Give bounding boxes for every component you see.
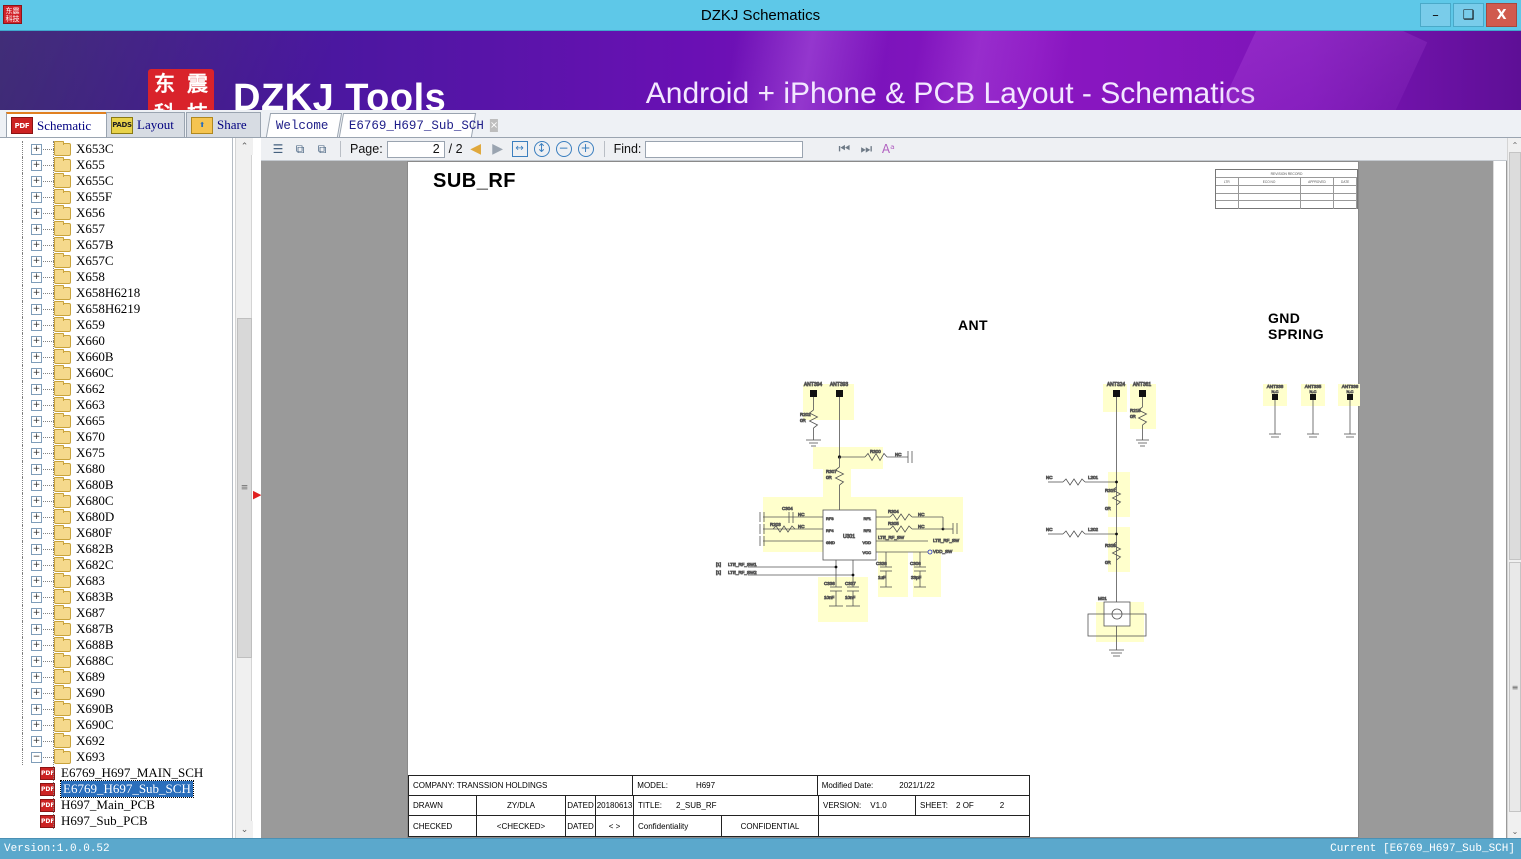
svg-text:R202: R202 <box>800 412 811 417</box>
document-icon[interactable]: ☰ <box>269 140 287 158</box>
expand-icon[interactable]: + <box>31 432 42 443</box>
tree-file-item[interactable]: PDFE6769_H697_MAIN_SCH <box>0 765 233 781</box>
tree-guide: + <box>0 333 34 349</box>
svg-text:N.C: N.C <box>1310 389 1317 394</box>
tree-folder-x680b[interactable]: +X680B <box>0 477 233 493</box>
doctab-welcome-label: Welcome <box>276 119 329 133</box>
folder-icon <box>54 559 71 572</box>
expand-icon[interactable]: + <box>31 368 42 379</box>
tree-folder-x690[interactable]: +X690 <box>0 685 233 701</box>
minimize-button[interactable]: – <box>1420 3 1451 27</box>
expand-icon[interactable]: + <box>31 736 42 747</box>
expand-icon[interactable]: + <box>31 144 42 155</box>
maximize-button[interactable]: ❑ <box>1453 3 1484 27</box>
sidebar-scroll-down-icon[interactable]: ⌄ <box>236 821 253 838</box>
viewer-scroll-thumb[interactable]: ≡ <box>1509 562 1521 812</box>
sidebar-scrollbar[interactable]: ⌃ ≡ ⌄ <box>235 138 252 838</box>
confidentiality-label: Confidentiality <box>634 816 722 836</box>
find-previous-button[interactable]: ⏮ <box>835 140 853 158</box>
tree-folder-x665[interactable]: +X665 <box>0 413 233 429</box>
model-value: H697 <box>696 781 715 790</box>
tree-folder-x655f[interactable]: +X655F <box>0 189 233 205</box>
tree-file-label: H697_Sub_PCB <box>61 813 148 829</box>
title-block: COMPANY: TRANSSION HOLDINGS MODEL: H697 … <box>408 775 1030 837</box>
prev-page-button[interactable]: ◀ <box>467 140 485 158</box>
checked-dated-value: < > <box>596 816 634 836</box>
tree-folder-x653c[interactable]: +X653C <box>0 141 233 157</box>
svg-text:0R: 0R <box>800 418 807 423</box>
svg-text:C336: C336 <box>824 581 835 586</box>
folder-icon <box>54 687 71 700</box>
tree-folder-label: X657B <box>76 237 114 253</box>
tree-folder-x657b[interactable]: +X657B <box>0 237 233 253</box>
tree-folder-label: X680D <box>76 509 114 525</box>
tree-folder-x687b[interactable]: +X687B <box>0 621 233 637</box>
page-inner-scrollbar[interactable] <box>1493 161 1506 838</box>
tree-folder-x660[interactable]: +X660 <box>0 333 233 349</box>
folder-icon <box>54 671 71 684</box>
svg-text:R316: R316 <box>1105 543 1116 548</box>
title-block-row-1: COMPANY: TRANSSION HOLDINGS MODEL: H697 … <box>409 776 1029 796</box>
svg-text:ANT393: ANT393 <box>830 382 849 388</box>
tree-folder-label: X662 <box>76 381 105 397</box>
tree-folder-x680f[interactable]: +X680F <box>0 525 233 541</box>
folder-icon <box>54 655 71 668</box>
tree-folder-label: X692 <box>76 733 105 749</box>
folder-icon <box>54 415 71 428</box>
tree-folder-label: X690B <box>76 701 114 717</box>
tab-share-label: Share <box>217 117 247 133</box>
tree-guide: + <box>0 269 34 285</box>
expand-icon[interactable]: + <box>31 544 42 555</box>
tree-folder-x682c[interactable]: +X682C <box>0 557 233 573</box>
tree-folder-label: X655C <box>76 173 114 189</box>
tree-guide: + <box>0 621 34 637</box>
tree-guide: + <box>0 637 34 653</box>
tree-guide: + <box>0 445 34 461</box>
tree-folder-x658h6219[interactable]: +X658H6219 <box>0 301 233 317</box>
version-value: V1.0 <box>870 801 886 810</box>
viewer-scroll-thumb-top[interactable] <box>1509 152 1521 560</box>
status-bar: Version:1.0.0.52 Current [E6769_H697_Sub… <box>0 838 1521 859</box>
expand-icon[interactable]: + <box>31 720 42 731</box>
folder-icon <box>54 383 71 396</box>
tree-guide: + <box>0 541 34 557</box>
tree-folder-label: X680B <box>76 477 114 493</box>
tree-folder-label: X688B <box>76 637 114 653</box>
banner-tagline: Android + iPhone & PCB Layout - Schemati… <box>0 77 1521 110</box>
find-next-button[interactable]: ⏭ <box>857 140 875 158</box>
svg-text:C326: C326 <box>876 561 887 566</box>
svg-text:ANT394: ANT394 <box>804 382 823 388</box>
folder-icon <box>54 335 71 348</box>
folder-icon <box>54 607 71 620</box>
svg-text:10nF: 10nF <box>845 595 856 600</box>
svg-text:0R: 0R <box>1105 560 1112 565</box>
splitter-expand-icon[interactable]: ▶ <box>253 488 261 502</box>
share-folder-icon: ⬆ <box>191 117 213 134</box>
svg-text:R304: R304 <box>888 509 899 514</box>
expand-icon[interactable]: + <box>31 624 42 635</box>
tree-guide: + <box>0 717 34 733</box>
model-cell: MODEL: H697 <box>633 776 817 795</box>
title-label: TITLE: <box>638 801 662 810</box>
svg-text:[1]: [1] <box>716 562 721 567</box>
viewer-toolbar: ☰ ⧉ ⧉ Page: 2 / 2 ◀ ▶ ↔ ↕ − + Find: ⏮ ⏭ … <box>261 138 1507 161</box>
match-case-icon[interactable]: Aᵃ <box>879 140 897 158</box>
folder-icon <box>54 463 71 476</box>
expand-icon[interactable]: + <box>31 256 42 267</box>
tree-guide: + <box>0 365 34 381</box>
svg-text:LTE_RF_SW: LTE_RF_SW <box>878 535 905 540</box>
folder-icon <box>54 351 71 364</box>
tree-folder-x659[interactable]: +X659 <box>0 317 233 333</box>
tree-guide: + <box>0 461 34 477</box>
svg-text:R203: R203 <box>770 522 781 527</box>
tab-schematic-label: Schematic <box>37 118 91 134</box>
page-total-label: / 2 <box>449 142 463 156</box>
folder-icon <box>54 319 71 332</box>
tab-share[interactable]: ⬆ Share <box>186 112 261 137</box>
svg-text:R317: R317 <box>1105 488 1116 493</box>
viewer-scroll-up-icon[interactable]: ⌃ <box>1508 138 1521 152</box>
folder-icon <box>54 175 71 188</box>
folder-icon <box>54 623 71 636</box>
expand-icon[interactable]: + <box>31 416 42 427</box>
svg-text:R307: R307 <box>826 469 837 474</box>
svg-text:0R: 0R <box>826 475 833 480</box>
tree-file-item[interactable]: PDFH697_Sub_PCB <box>0 813 233 829</box>
tree-guide: + <box>0 141 34 157</box>
file-tree-sidebar[interactable]: +X653C+X655+X655C+X655F+X656+X657+X657B+… <box>0 138 233 838</box>
toolbar-divider-2 <box>604 141 605 157</box>
tree-folder-x680[interactable]: +X680 <box>0 461 233 477</box>
folder-icon <box>54 703 71 716</box>
doctab-active-label: E6769_H697_Sub_SCH <box>349 119 484 133</box>
tree-folder-label: X689 <box>76 669 105 685</box>
company-cell: COMPANY: TRANSSION HOLDINGS <box>409 776 633 795</box>
expand-icon[interactable]: + <box>31 640 42 651</box>
tree-file-item[interactable]: PDFH697_Main_PCB <box>0 797 233 813</box>
tab-strip: PDF Schematic PADS Layout ⬆ Share Welcom… <box>0 110 1521 138</box>
tree-guide: + <box>0 509 34 525</box>
modified-label: Modified Date: <box>822 781 874 790</box>
tab-schematic[interactable]: PDF Schematic <box>6 112 110 137</box>
tree-file-item[interactable]: PDFE6769_H697_Sub_SCH <box>0 781 233 797</box>
tree-folder-label: X659 <box>76 317 105 333</box>
tree-guide: + <box>0 397 34 413</box>
folder-icon <box>54 511 71 524</box>
svg-text:VDD: VDD <box>863 540 872 545</box>
expand-icon[interactable]: + <box>31 288 42 299</box>
tree-folder-x680c[interactable]: +X680C <box>0 493 233 509</box>
expand-icon[interactable]: + <box>31 240 42 251</box>
tree-folder-label: X655F <box>76 189 112 205</box>
schematic-page: SUB_RF ANT GND SPRING REVISION RECORD LT… <box>407 161 1359 838</box>
tab-layout-label: Layout <box>137 117 174 133</box>
tree-guide: + <box>0 557 34 573</box>
expand-icon[interactable]: + <box>31 336 42 347</box>
tree-folder-x657[interactable]: +X657 <box>0 221 233 237</box>
folder-icon <box>54 751 71 764</box>
tree-folder-x688b[interactable]: +X688B <box>0 637 233 653</box>
schematic-drawing: ANT394 R202 0R ANT393 <box>408 162 1360 838</box>
expand-icon[interactable]: + <box>31 688 42 699</box>
tree-file-label: H697_Main_PCB <box>61 797 155 813</box>
tree-folder-label: X690C <box>76 717 114 733</box>
tree-folder-x655c[interactable]: +X655C <box>0 173 233 189</box>
expand-icon[interactable]: + <box>31 400 42 411</box>
tree-folder-x693[interactable]: −X693 <box>0 749 233 765</box>
tree-folder-label: X660C <box>76 365 114 381</box>
tree-folder-x656[interactable]: +X656 <box>0 205 233 221</box>
drawn-dated-value: 20180613 <box>596 796 634 815</box>
svg-text:R215: R215 <box>1130 408 1141 413</box>
tree-folder-label: X683 <box>76 573 105 589</box>
version-status: Version:1.0.0.52 <box>4 843 110 855</box>
folder-icon <box>54 719 71 732</box>
tree-folder-x663[interactable]: +X663 <box>0 397 233 413</box>
expand-icon[interactable]: + <box>31 192 42 203</box>
find-label: Find: <box>614 142 642 156</box>
folder-icon <box>54 255 71 268</box>
expand-icon[interactable]: + <box>31 224 42 235</box>
folder-icon <box>54 143 71 156</box>
title-block-row-2: DRAWN ZY/DLA DATED 20180613 TITLE: 2_SUB… <box>409 796 1029 816</box>
fit-width-button[interactable]: ↔ <box>511 140 529 158</box>
expand-icon[interactable]: + <box>31 560 42 571</box>
folder-icon <box>54 447 71 460</box>
svg-text:NC: NC <box>895 452 902 457</box>
svg-text:10nF: 10nF <box>824 595 835 600</box>
expand-icon[interactable]: + <box>31 576 42 587</box>
tree-file-label: E6769_H697_MAIN_SCH <box>61 765 203 781</box>
tree-guide: + <box>0 685 34 701</box>
svg-text:N.C: N.C <box>1272 389 1279 394</box>
tree-folder-label: X660 <box>76 333 105 349</box>
tree-guide: + <box>0 525 34 541</box>
doctab-e6769-h697-sub-sch[interactable]: E6769_H697_Sub_SCH × <box>339 113 476 137</box>
tree-guide: + <box>0 301 34 317</box>
copy-page-alt-icon[interactable]: ⧉ <box>313 140 331 158</box>
window-titlebar: 东震科技 DZKJ Schematics – ❑ X <box>0 0 1521 31</box>
find-input[interactable] <box>645 141 803 158</box>
folder-icon <box>54 543 71 556</box>
folder-icon <box>54 527 71 540</box>
tree-folder-label: X680C <box>76 493 114 509</box>
tree-folder-label: X658 <box>76 269 105 285</box>
tree-folder-x687[interactable]: +X687 <box>0 605 233 621</box>
zoom-out-button[interactable]: − <box>555 140 573 158</box>
collapse-icon[interactable]: − <box>31 752 42 763</box>
expand-icon[interactable]: + <box>31 160 42 171</box>
tree-guide: + <box>0 493 34 509</box>
tree-folder-label: X690 <box>76 685 105 701</box>
tree-guide: + <box>0 733 34 749</box>
expand-icon[interactable]: + <box>31 176 42 187</box>
tree-guide: + <box>0 189 34 205</box>
svg-text:RF4: RF4 <box>826 528 834 533</box>
version-cell: VERSION: V1.0 <box>819 796 916 815</box>
expand-icon[interactable]: + <box>31 656 42 667</box>
tree-folder-x690c[interactable]: +X690C <box>0 717 233 733</box>
expand-icon[interactable]: + <box>31 320 42 331</box>
tree-folder-x690b[interactable]: +X690B <box>0 701 233 717</box>
tree-guide: + <box>0 237 34 253</box>
svg-text:0R: 0R <box>1105 506 1112 511</box>
fit-page-button[interactable]: ↕ <box>533 140 551 158</box>
svg-text:LTE_RF_SW: LTE_RF_SW <box>933 538 960 543</box>
tree-folder-x688c[interactable]: +X688C <box>0 653 233 669</box>
tree-folder-x683[interactable]: +X683 <box>0 573 233 589</box>
tree-folder-x682b[interactable]: +X682B <box>0 541 233 557</box>
drawn-value: ZY/DLA <box>477 796 566 815</box>
folder-icon <box>54 239 71 252</box>
sheet-label: SHEET: <box>920 801 948 810</box>
expand-icon[interactable]: + <box>31 512 42 523</box>
expand-icon[interactable]: + <box>31 672 42 683</box>
svg-text:NC: NC <box>918 512 925 517</box>
folder-icon <box>54 431 71 444</box>
title-cell: TITLE: 2_SUB_RF <box>634 796 819 815</box>
tree-folder-label: X653C <box>76 141 114 157</box>
tree-folder-x662[interactable]: +X662 <box>0 381 233 397</box>
toolbar-divider-1 <box>340 141 341 157</box>
svg-text:NC: NC <box>798 512 805 517</box>
expand-icon[interactable]: + <box>31 272 42 283</box>
svg-text:R305: R305 <box>888 521 899 526</box>
close-icon[interactable]: × <box>490 119 498 132</box>
tree-folder-x658[interactable]: +X658 <box>0 269 233 285</box>
svg-text:1uF: 1uF <box>878 575 886 580</box>
tab-layout[interactable]: PADS Layout <box>106 112 185 137</box>
tree-folder-x689[interactable]: +X689 <box>0 669 233 685</box>
folder-icon <box>54 479 71 492</box>
tree-folder-label: X658H6218 <box>76 285 140 301</box>
svg-text:GND: GND <box>826 540 835 545</box>
drawn-dated-label: DATED <box>566 796 596 815</box>
svg-text:C306: C306 <box>910 561 921 566</box>
svg-text:L202: L202 <box>1088 527 1099 532</box>
zoom-in-button[interactable]: + <box>577 140 595 158</box>
tree-folder-x658h6218[interactable]: +X658H6218 <box>0 285 233 301</box>
pdf-viewer-canvas[interactable]: SUB_RF ANT GND SPRING REVISION RECORD LT… <box>261 161 1507 838</box>
svg-text:VDD_SW: VDD_SW <box>933 549 953 554</box>
tree-guide: + <box>0 205 34 221</box>
svg-text:LTE_RF_SW1: LTE_RF_SW1 <box>728 562 757 567</box>
expand-icon[interactable]: + <box>31 464 42 475</box>
page-label: Page: <box>350 142 383 156</box>
tree-guide: + <box>0 589 34 605</box>
svg-text:[1]: [1] <box>716 570 721 575</box>
current-file-status: Current [E6769_H697_Sub_SCH] <box>1330 843 1515 855</box>
tree-guide: + <box>0 253 34 269</box>
confidentiality-value: CONFIDENTIAL <box>722 816 819 836</box>
expand-icon[interactable]: + <box>31 208 42 219</box>
file-tree[interactable]: +X653C+X655+X655C+X655F+X656+X657+X657B+… <box>0 141 233 829</box>
window-title: DZKJ Schematics <box>0 0 1521 31</box>
svg-text:RF1: RF1 <box>863 516 871 521</box>
expand-icon[interactable]: + <box>31 304 42 315</box>
title-value: 2_SUB_RF <box>676 801 716 810</box>
svg-text:VCC: VCC <box>863 550 872 555</box>
expand-icon[interactable]: + <box>31 448 42 459</box>
tree-folder-label: X658H6219 <box>76 301 140 317</box>
expand-icon[interactable]: + <box>31 384 42 395</box>
copy-page-icon[interactable]: ⧉ <box>291 140 309 158</box>
tree-folder-x675[interactable]: +X675 <box>0 445 233 461</box>
tree-guide: + <box>0 653 34 669</box>
tree-guide: + <box>0 381 34 397</box>
folder-icon <box>54 159 71 172</box>
tree-folder-x657c[interactable]: +X657C <box>0 253 233 269</box>
svg-text:M01: M01 <box>1098 596 1107 601</box>
doctab-welcome[interactable]: Welcome <box>266 113 342 137</box>
expand-icon[interactable]: + <box>31 352 42 363</box>
svg-text:NC: NC <box>918 524 925 529</box>
tree-folder-x680d[interactable]: +X680D <box>0 509 233 525</box>
title-block-row-3: CHECKED <CHECKED> DATED < > Confidential… <box>409 816 1029 836</box>
tree-folder-label: X663 <box>76 397 105 413</box>
svg-text:C304: C304 <box>782 506 793 511</box>
checked-label: CHECKED <box>409 816 477 836</box>
tree-folder-label: X693 <box>76 749 105 765</box>
tree-folder-x670[interactable]: +X670 <box>0 429 233 445</box>
tree-guide: + <box>0 429 34 445</box>
folder-icon <box>54 495 71 508</box>
app-banner: 东 震 科 技 DZKJ Tools Android + iPhone & PC… <box>0 31 1521 110</box>
tree-folder-label: X670 <box>76 429 105 445</box>
sidebar-scroll-up-icon[interactable]: ⌃ <box>236 138 253 155</box>
folder-icon <box>54 575 71 588</box>
pdf-icon: PDF <box>11 117 33 134</box>
toolbar-spacer <box>812 141 826 157</box>
folder-icon <box>54 191 71 204</box>
svg-text:ANT361: ANT361 <box>1133 382 1152 388</box>
tree-folder-label: X660B <box>76 349 114 365</box>
folder-icon <box>54 207 71 220</box>
tree-guide: + <box>0 413 34 429</box>
tree-folder-x692[interactable]: +X692 <box>0 733 233 749</box>
expand-icon[interactable]: + <box>31 592 42 603</box>
svg-text:LTE_RF_SW2: LTE_RF_SW2 <box>728 570 757 575</box>
tree-folder-x660b[interactable]: +X660B <box>0 349 233 365</box>
tree-guide: + <box>0 157 34 173</box>
viewer-vertical-scrollbar[interactable]: ⌃ ≡ ⌄ <box>1507 138 1521 838</box>
expand-icon[interactable]: + <box>31 496 42 507</box>
next-page-button[interactable]: ▶ <box>489 140 507 158</box>
expand-icon[interactable]: + <box>31 480 42 491</box>
folder-icon <box>54 591 71 604</box>
tree-folder-label: X657C <box>76 253 114 269</box>
expand-icon[interactable]: + <box>31 528 42 539</box>
svg-text:R300: R300 <box>870 449 881 454</box>
page-number-input[interactable]: 2 <box>387 141 445 158</box>
tree-folder-label: X665 <box>76 413 105 429</box>
close-button[interactable]: X <box>1486 3 1517 27</box>
expand-icon[interactable]: + <box>31 704 42 715</box>
tree-folder-x660c[interactable]: +X660C <box>0 365 233 381</box>
viewer-scroll-down-icon[interactable]: ⌄ <box>1508 824 1521 838</box>
sidebar-scroll-thumb[interactable]: ≡ <box>237 318 252 658</box>
tree-folder-label: X680 <box>76 461 105 477</box>
expand-icon[interactable]: + <box>31 608 42 619</box>
tree-folder-x655[interactable]: +X655 <box>0 157 233 173</box>
tree-folder-x683b[interactable]: +X683B <box>0 589 233 605</box>
folder-icon <box>54 271 71 284</box>
tree-folder-label: X656 <box>76 205 105 221</box>
svg-text:N.C: N.C <box>1347 389 1354 394</box>
